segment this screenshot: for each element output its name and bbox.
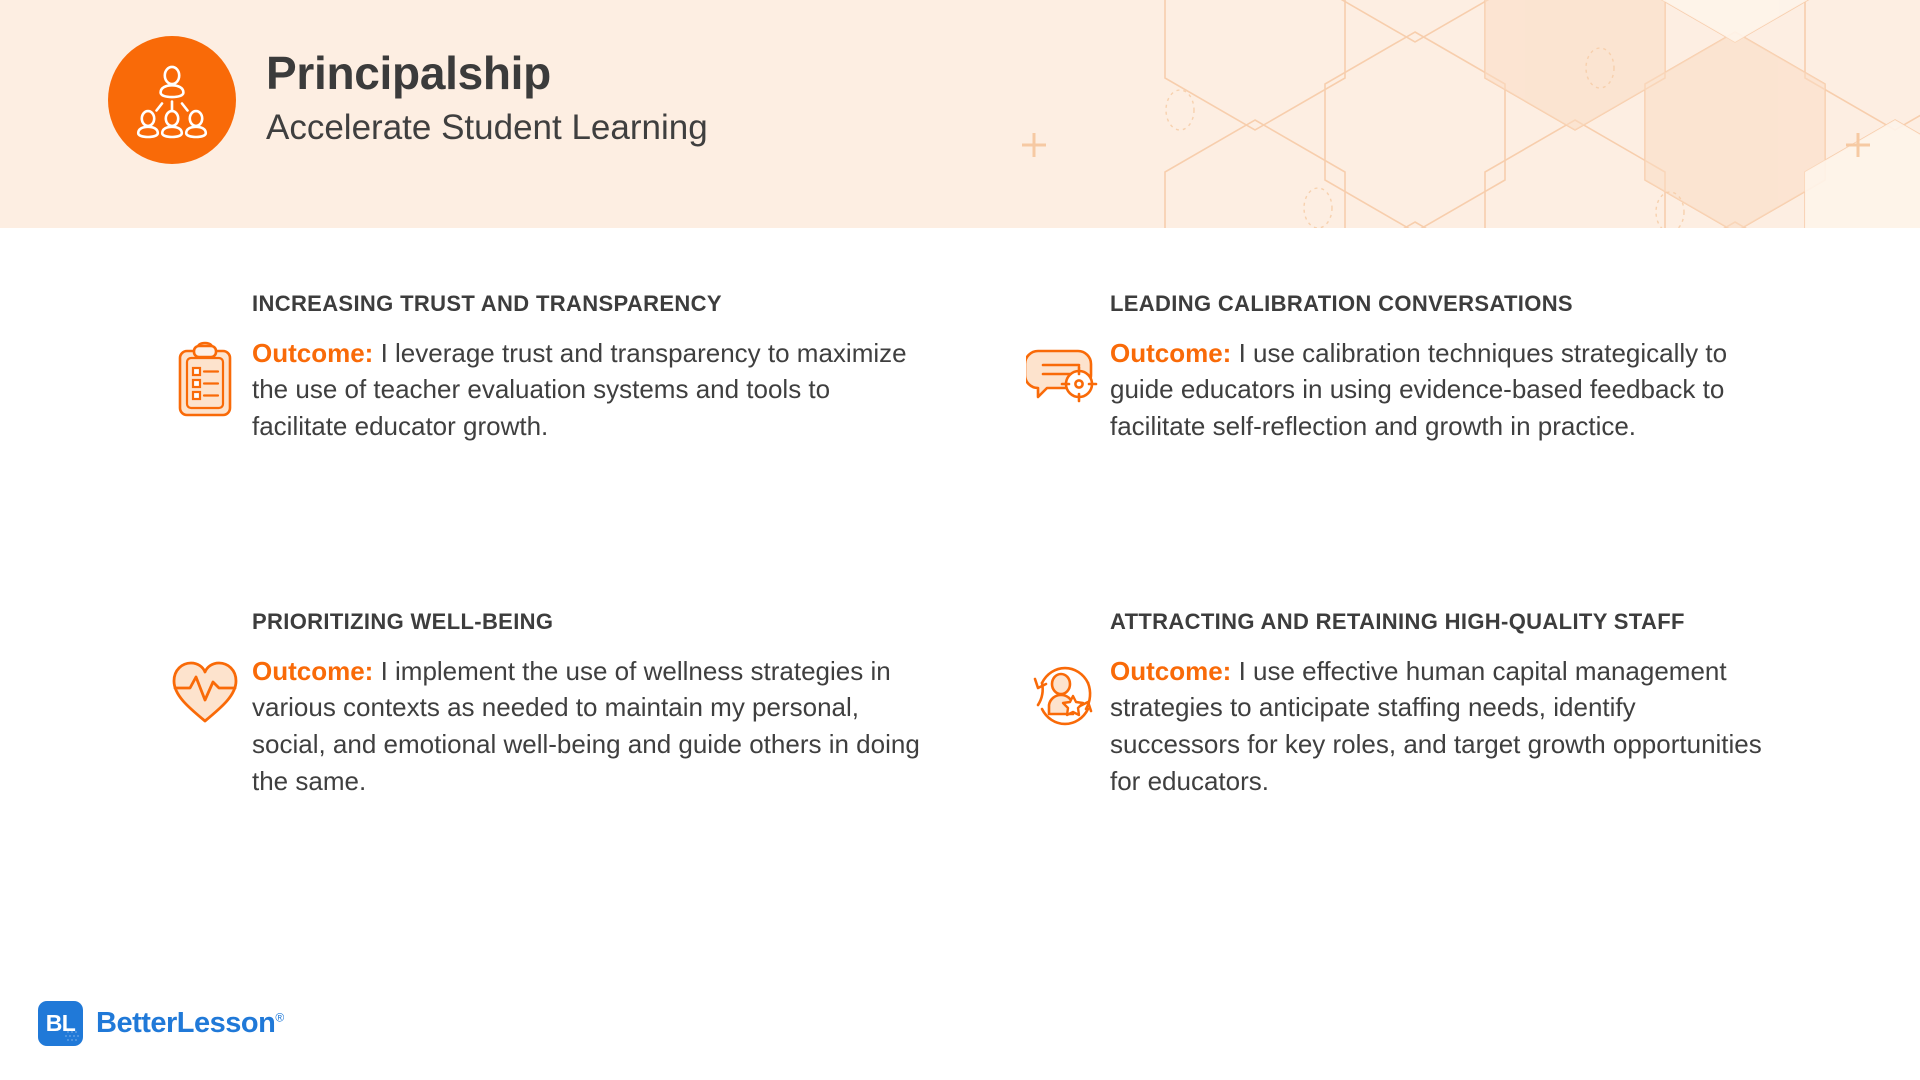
footer-logo: BL BetterLesson® [38, 1001, 284, 1046]
card-heading: INCREASING TRUST AND TRANSPARENCY [252, 288, 924, 321]
page-title: Principalship [266, 48, 708, 100]
slide-page: Principalship Accelerate Student Learnin… [0, 0, 1920, 1080]
card-heading: PRIORITIZING WELL-BEING [252, 606, 924, 639]
registered-trademark-symbol: ® [275, 1010, 283, 1024]
heart-pulse-icon [168, 653, 252, 732]
betterlesson-mark-icon: BL [38, 1001, 83, 1046]
speech-bubble-target-icon [1026, 335, 1110, 418]
competency-card-leading-calibration-conversations: LEADING CALIBRATION CONVERSATIONS [1110, 288, 1770, 445]
competency-grid: INCREASING TRUST AND TRANSPARENCY [0, 228, 1920, 958]
outcome-label: Outcome: [252, 338, 373, 368]
card-heading: ATTRACTING AND RETAINING HIGH-QUALITY ST… [1110, 606, 1770, 639]
betterlesson-mark-text: BL [46, 1012, 75, 1035]
competency-card-attracting-and-retaining-high-quality-staff: ATTRACTING AND RETAINING HIGH-QUALITY ST… [1110, 606, 1770, 800]
competency-card-increasing-trust-and-transparency: INCREASING TRUST AND TRANSPARENCY [252, 288, 924, 445]
clipboard-checklist-icon [168, 335, 252, 428]
card-body-row: Outcome: I use effective human capital m… [1110, 653, 1770, 801]
outcome-label: Outcome: [252, 656, 373, 686]
page-subtitle: Accelerate Student Learning [266, 106, 708, 150]
header-brand-block: Principalship Accelerate Student Learnin… [108, 36, 708, 164]
card-outcome-text: Outcome: I implement the use of wellness… [252, 653, 924, 801]
org-chart-people-icon [132, 60, 212, 140]
outcome-label: Outcome: [1110, 656, 1231, 686]
card-body-row: Outcome: I use calibration techniques st… [1110, 335, 1770, 446]
card-outcome-text: Outcome: I leverage trust and transparen… [252, 335, 924, 446]
betterlesson-wordmark-text: BetterLesson [96, 1007, 275, 1039]
brand-text-block: Principalship Accelerate Student Learnin… [266, 48, 708, 151]
card-outcome-text: Outcome: I use effective human capital m… [1110, 653, 1770, 801]
brand-badge [108, 36, 236, 164]
card-outcome-text: Outcome: I use calibration techniques st… [1110, 335, 1770, 446]
page-header: Principalship Accelerate Student Learnin… [0, 0, 1920, 228]
card-body-row: Outcome: I implement the use of wellness… [252, 653, 924, 801]
hexagon-pattern-decoration [800, 0, 1920, 228]
outcome-label: Outcome: [1110, 338, 1231, 368]
card-heading: LEADING CALIBRATION CONVERSATIONS [1110, 288, 1770, 321]
betterlesson-wordmark: BetterLesson® [96, 1009, 284, 1038]
card-body-row: Outcome: I leverage trust and transparen… [252, 335, 924, 446]
person-star-refresh-icon [1026, 653, 1110, 738]
competency-card-prioritizing-well-being: PRIORITIZING WELL-BEING Outcome: I imple… [252, 606, 924, 800]
